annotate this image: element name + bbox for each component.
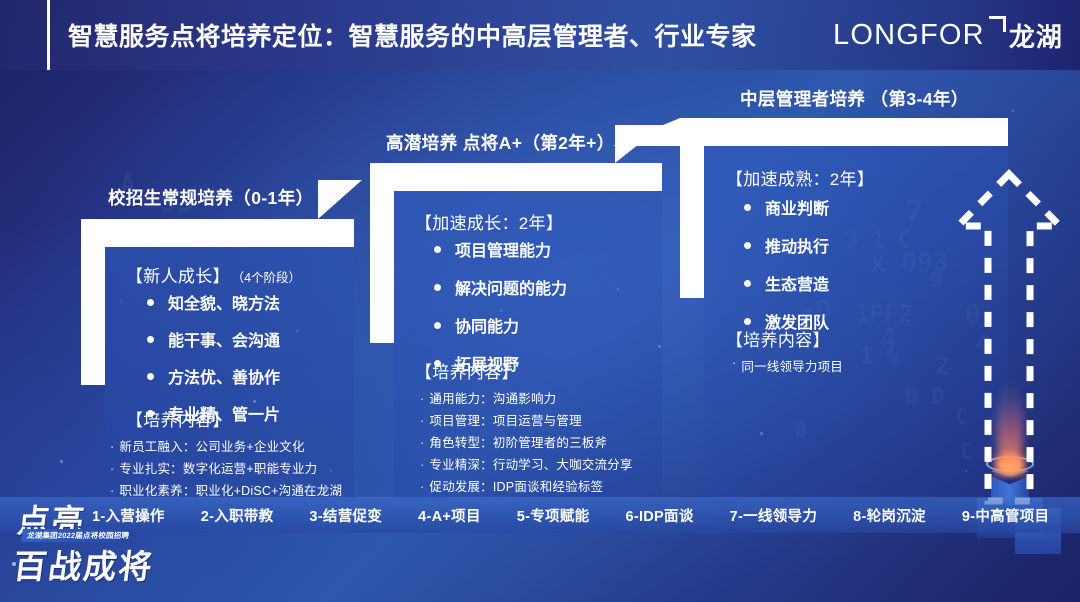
dash-bullet-icon: · — [732, 356, 736, 370]
list-item: ·同一线领导力项目 — [732, 356, 843, 375]
list-item-label: 解决问题的能力 — [455, 275, 567, 299]
brand-line-2: 百战成将 — [11, 540, 157, 588]
logo-wordmark-en: LONGFOR — [833, 19, 985, 52]
stage-3-section-title: 【加速成熟：2年】 — [726, 165, 882, 190]
bullet-dot-icon — [147, 299, 154, 306]
list-item: ·专业扎实：数字化运营+职能专业力 — [110, 458, 342, 480]
list-item: 能干事、会沟通 — [147, 327, 280, 351]
dash-bullet-icon: · — [420, 476, 424, 498]
step-item-4[interactable]: 4-A+项目 — [418, 505, 481, 526]
list-item-label: 知全貌、晓方法 — [168, 290, 280, 314]
dash-bullet-icon: · — [420, 388, 424, 410]
dash-bullet-icon: · — [110, 458, 114, 480]
bullet-dot-icon — [744, 242, 751, 249]
stage-2-section-title: 【加速成长：2年】 — [415, 209, 571, 234]
stage-3-header: 中层管理者培养 （第3-4年） — [740, 86, 969, 111]
step-item-8[interactable]: 8-轮岗沉淀 — [853, 505, 926, 526]
step-item-6[interactable]: 6-IDP面谈 — [625, 505, 693, 526]
list-item: ·新员工融入：公司业务+企业文化 — [110, 436, 342, 458]
stage-2-bracket-diagonal — [615, 125, 663, 163]
list-item: ·促动发展：IDP面谈和经验标签 — [420, 476, 633, 498]
title-accent-rule — [47, 0, 50, 70]
stage-3-bracket-left — [680, 146, 704, 298]
list-item: 解决问题的能力 — [434, 275, 567, 299]
list-item: 协同能力 — [434, 313, 567, 337]
light-speck — [60, 460, 63, 463]
stage-3-content-title: 【培养内容】 — [726, 326, 830, 351]
dash-bullet-icon: · — [420, 432, 424, 454]
list-item: ·项目管理：项目运营与管理 — [420, 410, 633, 432]
list-item: 方法优、善协作 — [147, 364, 280, 388]
list-item-label: 生态营造 — [765, 271, 829, 295]
bullet-dot-icon — [434, 322, 441, 329]
stage-2-header: 高潜培养 点将A+（第2年+） — [386, 130, 615, 155]
stage-3-section-title-text: 【加速成熟：2年】 — [726, 170, 874, 189]
stage-1-section-title-text: 【新人成长】 — [126, 267, 230, 286]
list-item: ·通用能力：沟通影响力 — [420, 388, 633, 410]
stage-1-content-list: ·新员工融入：公司业务+企业文化 ·专业扎实：数字化运营+职能专业力 ·职业化素… — [110, 436, 342, 502]
stage-3-bracket-top — [680, 118, 1008, 146]
list-item-label: 促动发展：IDP面谈和经验标签 — [429, 476, 603, 498]
up-arrow-dashed-svg — [952, 168, 1066, 508]
list-item: 生态营造 — [744, 271, 829, 295]
list-item-label: 专业扎实：数字化运营+职能专业力 — [119, 458, 317, 480]
list-item-label: 新员工融入：公司业务+企业文化 — [119, 436, 304, 458]
list-item: 推动执行 — [744, 233, 829, 257]
list-item: 商业判断 — [744, 195, 829, 219]
list-item-label: 同一线领导力项目 — [741, 356, 843, 375]
stage-1-bracket-top — [81, 219, 354, 247]
light-speck — [1012, 110, 1014, 112]
bullet-dot-icon — [434, 284, 441, 291]
list-item-label: 商业判断 — [765, 195, 829, 219]
bullet-dot-icon — [147, 373, 154, 380]
stage-3-bullet-list: 商业判断 推动执行 生态营造 激发团队 — [744, 195, 829, 333]
step-item-7[interactable]: 7-一线领导力 — [730, 505, 818, 526]
stage-1-section-subtitle: （4个阶段） — [238, 271, 301, 285]
longfor-logo: LONGFOR 龙湖 — [833, 16, 1063, 54]
slide-title-bar: 智慧服务点将培养定位：智慧服务的中高层管理者、行业专家 LONGFOR 龙湖 — [0, 0, 1080, 70]
step-item-3[interactable]: 3-结营促变 — [309, 505, 382, 526]
stage-1-bullet-list: 知全貌、晓方法 能干事、会沟通 方法优、善协作 专业精、管一片 — [147, 290, 280, 425]
bullet-dot-icon — [434, 246, 441, 253]
up-arrow-dashed-icon — [952, 168, 1066, 513]
list-item-label: 推动执行 — [765, 233, 829, 257]
stage-3-content-list: ·同一线领导力项目 — [732, 356, 843, 375]
stage-2-bullet-list: 项目管理能力 解决问题的能力 协同能力 拓展视野 — [434, 237, 567, 375]
stage-1-bracket-diagonal — [318, 180, 362, 219]
list-item-label: 项目管理：项目运营与管理 — [429, 410, 581, 432]
stage-2-section-title-text: 【加速成长：2年】 — [415, 214, 563, 233]
list-item: ·角色转型：初阶管理者的三板斧 — [420, 432, 633, 454]
bullet-dot-icon — [744, 318, 751, 325]
bullet-dot-icon — [744, 280, 751, 287]
list-item-label: 专业精深：行动学习、大咖交流分享 — [429, 454, 632, 476]
stage-1-header: 校招生常规培养（0-1年） — [108, 185, 314, 210]
step-item-2[interactable]: 2-入职带教 — [201, 505, 274, 526]
dash-bullet-icon: · — [420, 410, 424, 432]
list-item: 知全貌、晓方法 — [147, 290, 280, 314]
list-item: 项目管理能力 — [434, 237, 567, 261]
step-item-5[interactable]: 5-专项赋能 — [517, 505, 590, 526]
stage-2-bracket-left — [370, 191, 394, 343]
slide-canvas: 73 1 Cx 0939-01PF241 %2B DCC80493A 智慧服务点… — [0, 0, 1080, 602]
stage-2-content-title: 【培养内容】 — [415, 358, 519, 383]
dash-bullet-icon: · — [110, 436, 114, 458]
stage-1-content-title: 【培养内容】 — [126, 406, 230, 431]
list-item-label: 协同能力 — [455, 313, 519, 337]
list-item-label: 能干事、会沟通 — [168, 327, 280, 351]
campaign-logo: 点亮 龙湖集团2022届点将校园招聘 百战成将 — [10, 494, 182, 598]
corner-bracket-icon — [986, 16, 1006, 44]
bullet-dot-icon — [147, 336, 154, 343]
logo-wordmark-cn: 龙湖 — [1009, 17, 1063, 54]
bullet-dot-icon — [744, 204, 751, 211]
step-item-9[interactable]: 9-中高管项目 — [962, 505, 1050, 526]
stage-1-section-title: 【新人成长】（4个阶段） — [126, 262, 301, 287]
list-item-label: 项目管理能力 — [455, 237, 551, 261]
dash-bullet-icon: · — [420, 454, 424, 476]
list-item-label: 通用能力：沟通影响力 — [429, 388, 556, 410]
list-item-label: 方法优、善协作 — [168, 364, 280, 388]
stage-2-content-list: ·通用能力：沟通影响力 ·项目管理：项目运营与管理 ·角色转型：初阶管理者的三板… — [420, 388, 633, 498]
stage-2-bracket-top — [370, 163, 662, 191]
list-item: ·专业精深：行动学习、大咖交流分享 — [420, 454, 633, 476]
list-item-label: 角色转型：初阶管理者的三板斧 — [429, 432, 607, 454]
stage-1-bracket-left — [81, 247, 105, 385]
page-title: 智慧服务点将培养定位：智慧服务的中高层管理者、行业专家 — [68, 17, 757, 53]
step-list: 1-入营操作 2-入职带教 3-结营促变 4-A+项目 5-专项赋能 6-IDP… — [92, 505, 1080, 526]
